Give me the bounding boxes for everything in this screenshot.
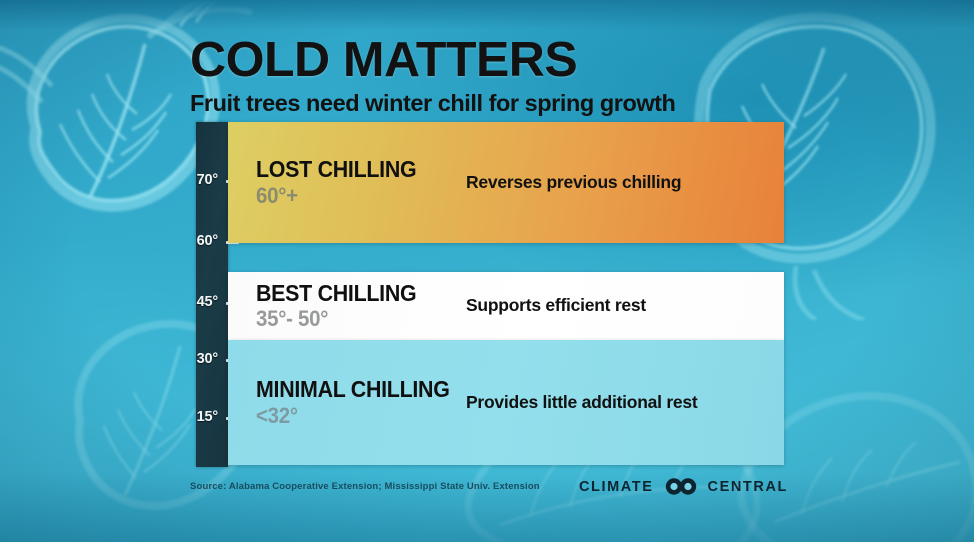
band-description: Supports efficient rest	[466, 295, 774, 316]
logo-word-left: CLIMATE	[579, 479, 654, 495]
band-title: MINIMAL CHILLING	[256, 378, 451, 401]
band-range: 60°+	[256, 184, 451, 207]
band-range: <32°	[256, 404, 451, 427]
axis-tick-label: 70°	[197, 172, 218, 188]
band-description: Provides little additional rest	[466, 392, 704, 413]
band-title: LOST CHILLING	[256, 158, 451, 181]
band-title: BEST CHILLING	[256, 282, 451, 305]
axis-tick-label: 15°	[197, 409, 218, 425]
climate-central-logo: CLIMATE CENTRAL	[579, 477, 788, 496]
band-lost-chilling: LOST CHILLING 60°+ Reverses previous chi…	[228, 122, 784, 243]
band-label-group: LOST CHILLING 60°+	[228, 158, 466, 207]
band-description-group: Reverses previous chilling	[466, 172, 784, 193]
page-title: COLD MATTERS	[190, 36, 822, 86]
band-description-group: Supports efficient rest	[466, 295, 784, 316]
band-description: Reverses previous chilling	[466, 172, 774, 193]
logo-word-right: CENTRAL	[708, 479, 788, 495]
temperature-axis: 70° 60° 45° 30° 15°	[196, 122, 228, 467]
interlocking-circles-icon	[661, 477, 701, 496]
source-citation: Source: Alabama Cooperative Extension; M…	[190, 481, 540, 492]
band-range: 35°- 50°	[256, 307, 451, 330]
page-subtitle: Fruit trees need winter chill for spring…	[190, 90, 810, 117]
band-description-group: Provides little additional rest	[466, 392, 784, 413]
band-best-chilling: BEST CHILLING 35°- 50° Supports efficien…	[228, 272, 784, 340]
band-minimal-chilling: MINIMAL CHILLING <32° Provides little ad…	[228, 340, 784, 465]
chart: 70° 60° 45° 30° 15° LOST CHILLING 60°+	[196, 122, 788, 467]
axis-tick-label: 30°	[197, 351, 218, 367]
band-label-group: MINIMAL CHILLING <32°	[228, 378, 466, 427]
band-label-group: BEST CHILLING 35°- 50°	[228, 282, 466, 331]
axis-tick-label: 60°	[197, 233, 218, 249]
axis-tick-label: 45°	[197, 294, 218, 310]
title-block: COLD MATTERS Fruit trees need winter chi…	[190, 36, 810, 117]
